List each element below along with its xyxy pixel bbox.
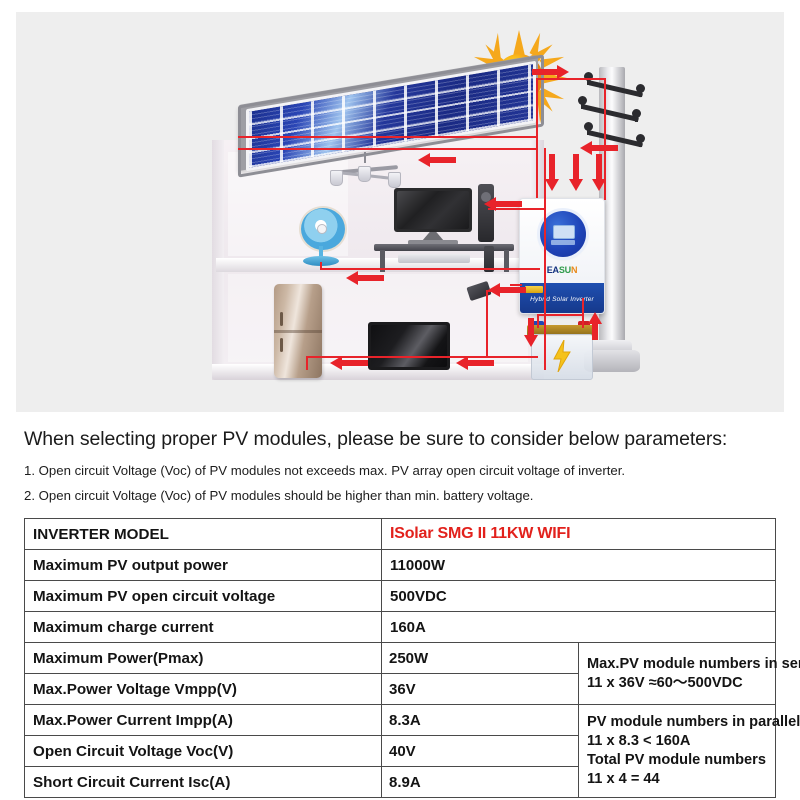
intro-heading: When selecting proper PV modules, please… — [24, 428, 727, 451]
arrow-to-monitor — [484, 197, 496, 211]
arrow-to-refrigerator — [330, 356, 342, 370]
arrow-bar-down-3 — [596, 154, 602, 180]
roof-assembly — [238, 80, 538, 154]
cell-value: 36V — [382, 674, 579, 705]
arrow-grid-to-pole — [580, 141, 592, 155]
pole-insulator-2a — [578, 96, 587, 105]
inverter-band-text: Hybrid Solar Inverter — [520, 296, 604, 303]
arrow-bar-upper-room — [430, 157, 456, 163]
refrigerator-door-split — [274, 330, 322, 333]
keyboard-icon — [398, 254, 470, 263]
arrow-bar-battery-discharge — [592, 322, 598, 340]
note-total-title: Total PV module numbers — [587, 751, 775, 770]
arrow-to-wallbox — [488, 283, 500, 297]
cell-note-parallel-total: PV module numbers in parallel 11 x 8.3 <… — [579, 705, 776, 798]
note-parallel-calc: 11 x 8.3 < 160A — [587, 732, 775, 751]
pole-insulator-2b — [632, 109, 641, 118]
arrow-bar-down-2 — [573, 154, 579, 180]
intro-note-2: 2. Open circuit Voltage (Voc) of PV modu… — [24, 488, 533, 503]
cell-inverter-model-label: INVERTER MODEL — [25, 519, 382, 550]
brand-su: SU — [559, 265, 571, 275]
cell-label: Maximum PV open circuit voltage — [25, 581, 382, 612]
cell-note-series: Max.PV module numbers in senes 11 x 36V … — [579, 643, 776, 705]
brand-un: N — [571, 265, 577, 275]
hybrid-solar-inverter: EASUN Hybrid Solar Inverter — [519, 198, 605, 314]
arrow-bar-wallbox — [500, 287, 526, 293]
intro-note-1: 1. Open circuit Voltage (Voc) of PV modu… — [24, 463, 625, 478]
speaker-icon — [478, 184, 494, 242]
table-row: Maximum charge current 160A — [25, 612, 776, 643]
inverter-dial — [540, 211, 586, 257]
cell-value: 8.9A — [382, 767, 579, 798]
table-row: Maximum PV open circuit voltage 500VDC — [25, 581, 776, 612]
refrigerator-handle-lower — [280, 338, 283, 352]
table-row: Maximum Power(Pmax) 250W Max.PV module n… — [25, 643, 776, 674]
pole-insulator-3a — [584, 122, 593, 131]
pole-insulator-1b — [636, 84, 645, 93]
chandelier-icon — [326, 152, 404, 188]
note-parallel-title: PV module numbers in parallel — [587, 713, 775, 732]
wire-inverter-bottom — [537, 314, 583, 316]
inverter-badge — [525, 286, 543, 293]
wire-roof-right-drop — [536, 136, 538, 198]
cell-label: Short Circuit Current Isc(A) — [25, 767, 382, 798]
cell-label: Max.Power Current Impp(A) — [25, 705, 382, 736]
wire-upper-branch — [488, 208, 546, 210]
cell-value: 40V — [382, 736, 579, 767]
arrow-bar-grid-pole — [592, 145, 618, 151]
arrow-down-left — [545, 179, 559, 191]
arrow-bar-tv-feed — [496, 201, 522, 207]
pole-insulator-3b — [636, 134, 645, 143]
cell-label: Open Circuit Voltage Voc(V) — [25, 736, 382, 767]
monitor-icon — [394, 188, 472, 232]
solar-system-illustration: EASUN Hybrid Solar Inverter — [16, 12, 784, 412]
table-row: Maximum PV output power 11000W — [25, 550, 776, 581]
cell-value: 8.3A — [382, 705, 579, 736]
cell-value: 500VDC — [382, 581, 776, 612]
spec-table: INVERTER MODEL ISolar SMG II 11KW WIFI M… — [24, 518, 776, 798]
wire-panel-to-sun-line — [536, 78, 538, 138]
wire-battery-neg — [537, 314, 539, 328]
cell-label: Maximum PV output power — [25, 550, 382, 581]
cell-value: 250W — [382, 643, 579, 674]
cell-label: Maximum Power(Pmax) — [25, 643, 382, 674]
note-series-title: Max.PV module numbers in senes — [587, 655, 775, 674]
arrow-down-right — [592, 179, 606, 191]
brand-ea: EA — [547, 265, 559, 275]
arrow-to-fan — [346, 271, 358, 285]
wire-fan-feed-h — [320, 268, 540, 270]
arrow-battery-discharge — [588, 312, 602, 324]
refrigerator-handle-upper — [280, 312, 283, 326]
wire-left-in — [510, 284, 522, 286]
cell-label: Maximum charge current — [25, 612, 382, 643]
fan-icon — [299, 206, 345, 268]
cell-label: Max.Power Voltage Vmpp(V) — [25, 674, 382, 705]
wire-roof-top — [238, 136, 538, 138]
cell-value: 160A — [382, 612, 776, 643]
table-row: Max.Power Current Impp(A) 8.3A PV module… — [25, 705, 776, 736]
arrow-down-mid — [569, 179, 583, 191]
cell-inverter-model-value: ISolar SMG II 11KW WIFI — [382, 519, 776, 550]
inverter-lcd — [553, 225, 575, 239]
arrow-bar-panel-grid — [532, 69, 558, 75]
arrow-to-television — [456, 356, 468, 370]
inverter-brand-logo: EASUN — [520, 265, 604, 275]
arrow-panel-to-grid — [557, 65, 569, 79]
note-total-calc: 11 x 4 = 44 — [587, 770, 775, 789]
inverter-lcd-secondary — [551, 240, 575, 245]
arrow-bar-fan-feed — [358, 275, 384, 281]
wire-upper-room-top — [238, 148, 538, 150]
wire-lower-left-stub — [306, 356, 308, 370]
arrow-bar-tv2 — [468, 360, 494, 366]
inverter-label-band: Hybrid Solar Inverter — [520, 283, 604, 313]
wire-fan-feed-v — [320, 262, 322, 270]
lightning-bolt-icon — [552, 340, 572, 372]
arrow-bar-battery-charge — [528, 318, 534, 336]
arrow-bar-fridge — [342, 360, 368, 366]
wire-battery-pos — [582, 314, 584, 328]
television-icon — [368, 322, 450, 370]
wire-inverter-right-bus — [604, 198, 606, 200]
arrow-battery-charge — [524, 335, 538, 347]
wire-wallbox-drop — [486, 290, 488, 358]
arrow-to-chandelier — [418, 153, 430, 167]
wire-sun-horizontal — [536, 78, 606, 80]
table-row-model: INVERTER MODEL ISolar SMG II 11KW WIFI — [25, 519, 776, 550]
cell-value: 11000W — [382, 550, 776, 581]
arrow-bar-down-1 — [549, 154, 555, 180]
note-series-calc: 11 x 36V ≈60〜500VDC — [587, 674, 775, 693]
page-root: EASUN Hybrid Solar Inverter — [0, 0, 800, 800]
